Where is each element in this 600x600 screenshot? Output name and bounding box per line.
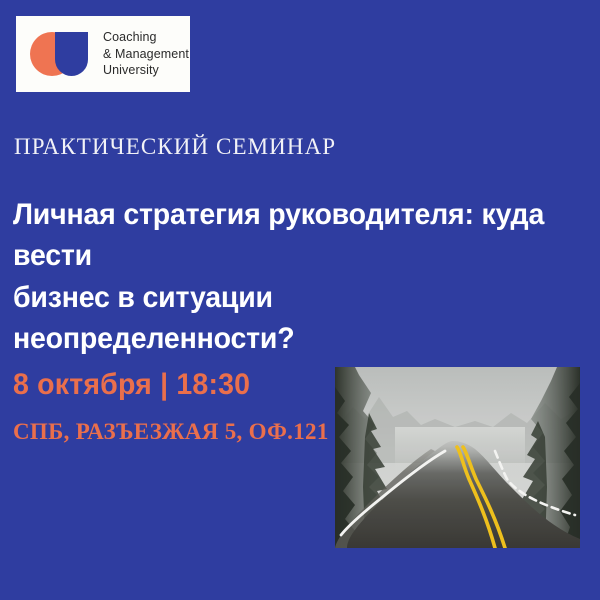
page-title: Личная стратегия руководителя: куда вест… <box>13 194 545 360</box>
headline-line-1: Личная стратегия руководителя: куда вест… <box>13 194 545 277</box>
logo-wordmark-line-2: & Management <box>103 46 189 63</box>
event-kicker: ПРАКТИЧЕСКИЙ СЕМИНАР <box>14 134 336 160</box>
foggy-road-photo <box>335 367 580 548</box>
seminar-poster: Coaching & Management University ПРАКТИЧ… <box>0 0 600 600</box>
event-date-time: 8 октября | 18:30 <box>13 368 250 402</box>
logo-wordmark-line-1: Coaching <box>103 29 189 46</box>
logo-wordmark-line-3: University <box>103 62 189 79</box>
logo-wordmark: Coaching & Management University <box>103 29 189 79</box>
coaching-management-university-logomark-icon <box>30 30 92 78</box>
headline-line-2: бизнес в ситуации неопределенности? <box>13 277 545 360</box>
event-venue: СПБ, РАЗЪЕЗЖАЯ 5, ОФ.121 <box>13 419 329 445</box>
logo-card: Coaching & Management University <box>16 16 190 92</box>
logo-u-shape <box>55 32 88 76</box>
